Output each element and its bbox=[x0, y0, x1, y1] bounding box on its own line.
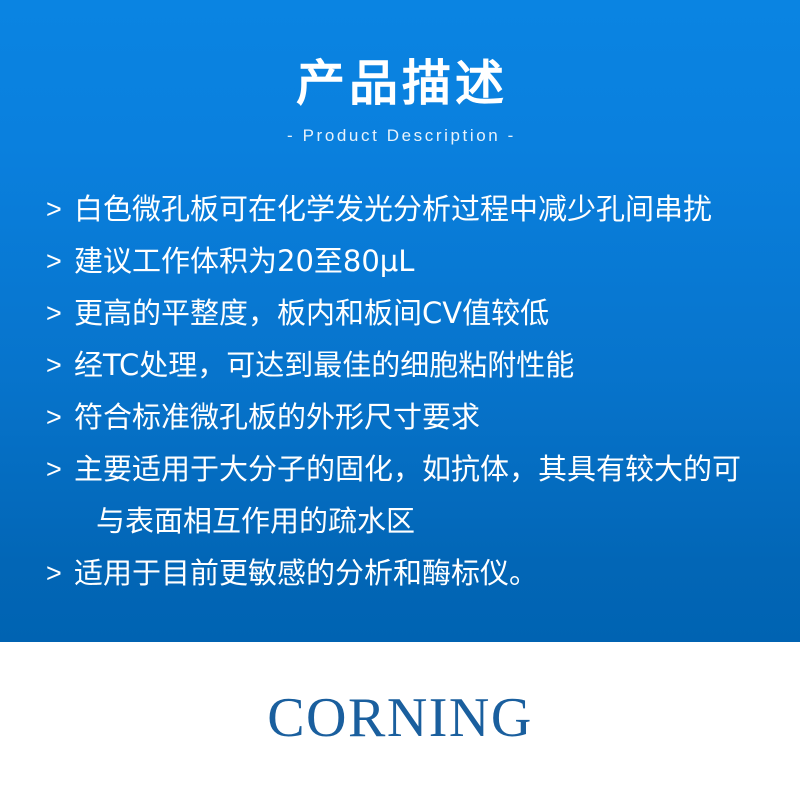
footer-area: CORNING bbox=[0, 642, 800, 800]
corning-logo: CORNING bbox=[0, 688, 800, 748]
list-item-label: 经TC处理，可达到最佳的细胞粘附性能 bbox=[74, 339, 784, 391]
list-item-label: 建议工作体积为20至80μL bbox=[74, 235, 784, 287]
page-title: 产品描述 bbox=[0, 56, 800, 112]
chevron-right-icon: > bbox=[46, 391, 62, 443]
list-item: > 符合标准微孔板的外形尺寸要求 bbox=[44, 391, 784, 443]
list-item-label: 更高的平整度，板内和板间CV值较低 bbox=[74, 287, 784, 339]
feature-bullet-list: > 白色微孔板可在化学发光分析过程中减少孔间串扰 > 建议工作体积为20至80μ… bbox=[44, 183, 784, 599]
chevron-right-icon: > bbox=[46, 547, 62, 599]
list-item: > 更高的平整度，板内和板间CV值较低 bbox=[44, 287, 784, 339]
list-item-label-continuation: 与表面相互作用的疏水区 bbox=[74, 495, 784, 547]
list-item-label: 符合标准微孔板的外形尺寸要求 bbox=[74, 391, 784, 443]
list-item: > 适用于目前更敏感的分析和酶标仪。 bbox=[44, 547, 784, 599]
chevron-right-icon: > bbox=[46, 339, 62, 391]
list-item-label: 适用于目前更敏感的分析和酶标仪。 bbox=[74, 547, 784, 599]
product-description-panel: 产品描述 - Product Description - > 白色微孔板可在化学… bbox=[0, 0, 800, 800]
chevron-right-icon: > bbox=[46, 443, 62, 495]
hero-blue-banner: 产品描述 - Product Description - > 白色微孔板可在化学… bbox=[0, 0, 800, 642]
title-block: 产品描述 - Product Description - bbox=[0, 56, 800, 148]
list-item: > 建议工作体积为20至80μL bbox=[44, 235, 784, 287]
chevron-right-icon: > bbox=[46, 287, 62, 339]
list-item: > 主要适用于大分子的固化，如抗体，其具有较大的可 与表面相互作用的疏水区 bbox=[44, 443, 784, 547]
page-subtitle: - Product Description - bbox=[0, 124, 800, 148]
chevron-right-icon: > bbox=[46, 235, 62, 287]
list-item: > 经TC处理，可达到最佳的细胞粘附性能 bbox=[44, 339, 784, 391]
chevron-right-icon: > bbox=[46, 183, 62, 235]
list-item-label: 白色微孔板可在化学发光分析过程中减少孔间串扰 bbox=[74, 183, 784, 235]
list-item: > 白色微孔板可在化学发光分析过程中减少孔间串扰 bbox=[44, 183, 784, 235]
list-item-label: 主要适用于大分子的固化，如抗体，其具有较大的可 bbox=[74, 443, 784, 495]
